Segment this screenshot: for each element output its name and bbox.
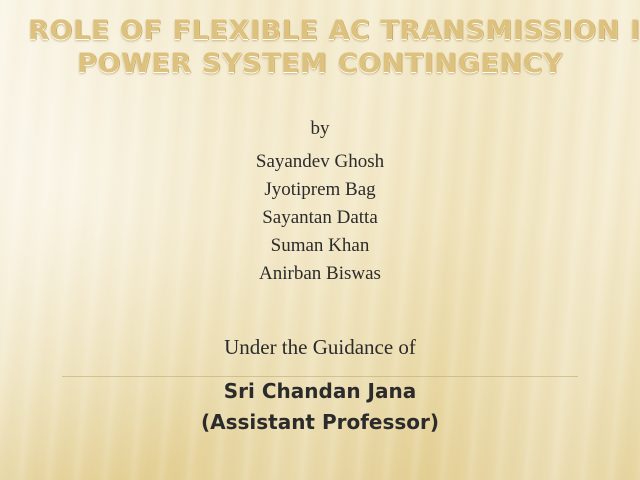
mentor-name: Sri Chandan Jana (0, 379, 640, 403)
list-item: Jyotiprem Bag (0, 176, 640, 204)
list-item: Sayantan Datta (0, 204, 640, 232)
slide-content: Role of Flexible AC Transmission in Powe… (0, 0, 640, 480)
divider (62, 376, 578, 377)
list-item: Suman Khan (0, 232, 640, 260)
title-line-2: Power System Contingency (28, 47, 612, 80)
title-line-1: Role of Flexible AC Transmission in (28, 14, 612, 47)
mentor-role: (Assistant Professor) (0, 410, 640, 434)
page-title: Role of Flexible AC Transmission in Powe… (28, 14, 612, 80)
author-list: Sayandev Ghosh Jyotiprem Bag Sayantan Da… (0, 148, 640, 288)
list-item: Sayandev Ghosh (0, 148, 640, 176)
by-label: by (0, 118, 640, 140)
list-item: Anirban Biswas (0, 260, 640, 288)
presentation-slide: Role of Flexible AC Transmission in Powe… (0, 0, 640, 480)
guidance-label: Under the Guidance of (0, 335, 640, 360)
